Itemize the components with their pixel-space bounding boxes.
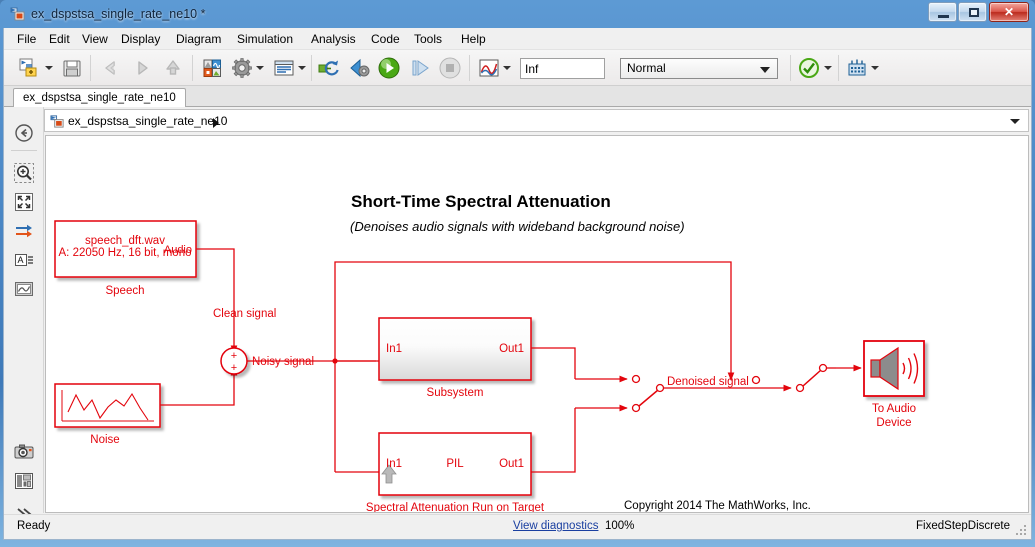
model-advisor-button[interactable] [795,54,823,82]
menu-help[interactable]: Help [454,28,493,50]
step-forward-button[interactable] [406,54,434,82]
menu-display[interactable]: Display [114,28,167,50]
speech-file-label: speech_dft.wav [85,235,165,247]
fit-to-view-button[interactable] [12,190,36,214]
window-title: ex_dspstsa_single_rate_ne10 * [31,4,205,24]
forward-button[interactable] [128,54,156,82]
menu-simulation[interactable]: Simulation [230,28,300,50]
hardware-board-button[interactable] [843,54,871,82]
toolbar-separator [311,55,312,81]
menu-diagram[interactable]: Diagram [169,28,228,50]
zoom-in-icon [13,162,35,184]
model-explorer-button[interactable] [270,54,298,82]
run-button[interactable] [375,54,403,82]
client-area: File Edit View Display Diagram Simulatio… [3,28,1032,540]
breadcrumb-path[interactable]: ex_dspstsa_single_rate_ne10 [68,110,227,133]
svg-text:A: A [18,255,24,265]
toolbar-separator [838,55,839,81]
canvas-toolstrip: A [4,107,44,513]
library-browser-button[interactable] [198,54,226,82]
close-icon: ✕ [990,3,1028,21]
title-bar: ex_dspstsa_single_rate_ne10 * ✕ [0,0,1035,28]
back-arrow-icon [98,55,124,81]
model-explorer-dropdown-icon[interactable] [298,66,306,70]
legend-icon [13,470,35,492]
document-tabstrip: ex_dspstsa_single_rate_ne10 [4,86,1031,107]
hardware-board-icon [844,55,870,81]
menu-file[interactable]: File [10,28,43,50]
camera-snapshot-button[interactable] [12,440,36,464]
status-state: Ready [17,520,50,532]
breadcrumb-row: ex_dspstsa_single_rate_ne10 [4,107,1031,134]
simulation-mode-select[interactable]: Normal [620,58,778,79]
new-model-button[interactable] [14,54,42,82]
audio-device-label-line2: Device [876,417,911,429]
chevron-down-icon [760,67,770,73]
scope-icon [476,55,502,81]
navigate-up-button[interactable] [12,121,36,145]
scope-button[interactable] [475,54,503,82]
pil-center-label: PIL [446,458,464,470]
forward-arrow-icon [129,55,155,81]
menu-tools[interactable]: Tools [407,28,449,50]
fast-restart-button[interactable] [346,54,374,82]
simulation-mode-value: Normal [627,59,666,78]
solver-name: FixedStepDiscrete [916,520,1010,532]
toolbar-separator [790,55,791,81]
model-advisor-icon [796,55,822,81]
text-annotation-icon: A [13,249,35,271]
chevron-down-icon[interactable] [1010,119,1020,124]
update-model-icon [316,55,342,81]
speech-port-out-label: Audio [164,244,192,256]
signal-arrows-icon [13,220,35,242]
area-annotation-button[interactable] [12,277,36,301]
library-browser-icon [199,55,225,81]
maximize-icon [969,8,979,17]
scope-dropdown-icon[interactable] [503,66,511,70]
breadcrumb-caret-icon[interactable] [213,118,219,128]
application-window: ex_dspstsa_single_rate_ne10 * ✕ File Edi… [0,0,1035,547]
area-annotation-icon [13,278,35,300]
menu-bar: File Edit View Display Diagram Simulatio… [4,28,1031,50]
toolbar: Normal [4,50,1031,86]
model-explorer-icon [271,55,297,81]
minimize-icon [938,15,949,18]
pil-port-out-label: Out1 [499,458,524,470]
maximize-button[interactable] [958,2,987,22]
menu-code[interactable]: Code [364,28,407,50]
menu-edit[interactable]: Edit [42,28,77,50]
signal-label-denoised: Denoised signal [667,376,749,388]
back-button[interactable] [97,54,125,82]
fit-to-view-icon [13,191,35,213]
legend-button[interactable] [12,469,36,493]
new-model-icon [15,55,41,81]
run-icon [376,55,402,81]
noise-block-label: Noise [90,434,119,446]
resize-grip-icon[interactable] [1015,524,1028,537]
model-canvas[interactable]: Short-Time Spectral Attenuation (Denoise… [45,135,1029,513]
menu-analysis[interactable]: Analysis [304,28,363,50]
save-button[interactable] [58,54,86,82]
camera-snapshot-icon [13,441,35,463]
model-configuration-dropdown-icon[interactable] [256,66,264,70]
simulink-model-icon [10,6,26,22]
view-diagnostics-link[interactable]: View diagnostics [513,520,598,532]
toolstrip-divider [11,150,37,151]
step-forward-icon [407,55,433,81]
stop-icon [437,55,463,81]
sum-sign-bottom: + [231,362,237,374]
navigate-up-icon [13,122,35,144]
toolbar-separator [90,55,91,81]
model-configuration-button[interactable] [228,54,256,82]
zoom-level: 100% [605,520,634,532]
model-diagram[interactable]: speech_dft.wav A: 22050 Hz, 16 bit, mono… [46,136,1029,513]
breadcrumb: ex_dspstsa_single_rate_ne10 [44,109,1029,132]
tab-model[interactable]: ex_dspstsa_single_rate_ne10 [13,88,186,107]
update-model-button[interactable] [315,54,343,82]
stop-button[interactable] [436,54,464,82]
status-bar: Ready View diagnostics 100% FixedStepDis… [4,514,1031,539]
model-advisor-dropdown-icon[interactable] [824,66,832,70]
signal-label-noisy: Noisy signal [252,356,314,368]
menu-view[interactable]: View [75,28,115,50]
speech-block-label: Speech [105,285,144,297]
new-model-dropdown-icon[interactable] [45,66,53,70]
sum-sign-top: + [231,350,237,362]
save-icon [59,55,85,81]
pil-port-in-label: In1 [386,458,402,470]
pil-block-label: Spectral Attenuation Run on Target [366,502,545,513]
toolbar-separator [192,55,193,81]
subsystem-port-in-label: In1 [386,343,402,355]
minimize-button[interactable] [928,2,957,22]
audio-device-label-line1: To Audio [872,403,916,415]
subsystem-block-label: Subsystem [427,387,484,399]
signal-arrows-button[interactable] [12,219,36,243]
signal-label-clean: Clean signal [213,308,276,320]
fast-restart-icon [347,55,373,81]
stop-time-input[interactable] [520,58,605,79]
up-button[interactable] [159,54,187,82]
gear-icon [229,55,255,81]
zoom-in-button[interactable] [12,161,36,185]
close-button[interactable]: ✕ [989,2,1029,22]
subsystem-port-out-label: Out1 [499,343,524,355]
text-annotation-button[interactable]: A [12,248,36,272]
hardware-board-dropdown-icon[interactable] [871,66,879,70]
simulink-model-icon [50,114,65,129]
toolbar-separator [469,55,470,81]
up-arrow-icon [160,55,186,81]
